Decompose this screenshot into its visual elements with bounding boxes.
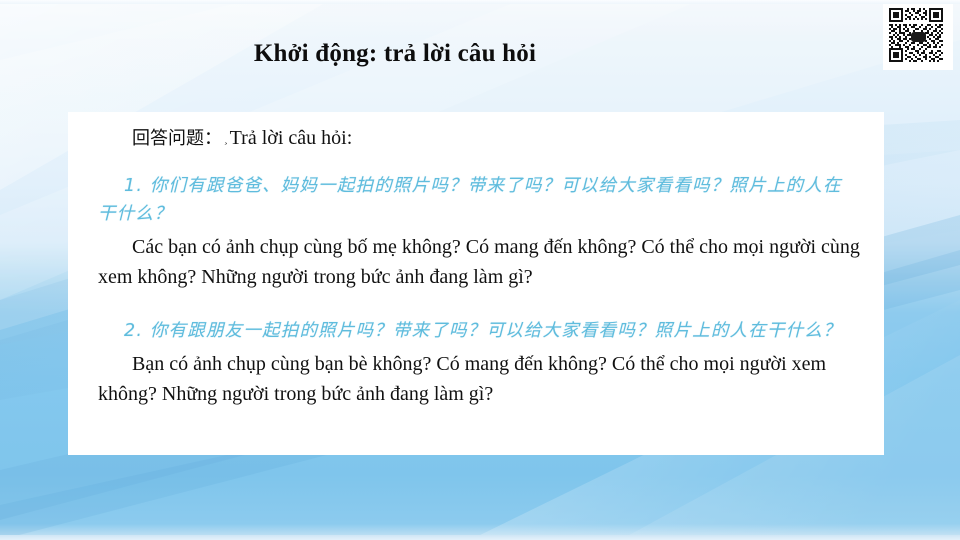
question-block-2: 2. 你有跟朋友一起拍的照片吗？带来了吗？可以给大家看看吗？照片上的人在干什么？… bbox=[68, 317, 884, 409]
card-heading: 回答问题：¸Trả lời câu hỏi: bbox=[132, 124, 352, 150]
question-1-vietnamese: Các bạn có ảnh chụp cùng bố mẹ không? Có… bbox=[68, 228, 884, 292]
question-block-1: 1. 你们有跟爸爸、妈妈一起拍的照片吗？带来了吗？可以给大家看看吗？照片上的人在… bbox=[68, 172, 884, 292]
qr-code[interactable] bbox=[883, 4, 953, 70]
page-title: Khởi động: trả lời câu hỏi bbox=[0, 40, 790, 68]
card-heading-tick: ¸ bbox=[222, 133, 230, 145]
slide-canvas: Khởi động: trả lời câu hỏi 回答问题：¸Trả lời… bbox=[0, 0, 960, 540]
top-edge-strip bbox=[0, 0, 960, 4]
card-heading-chinese: 回答问题： bbox=[132, 128, 222, 149]
bottom-edge-strip bbox=[0, 535, 960, 540]
content-card: 回答问题：¸Trả lời câu hỏi: 1. 你们有跟爸爸、妈妈一起拍的照… bbox=[68, 112, 884, 455]
qr-center-logo-icon bbox=[911, 32, 926, 42]
question-2-vietnamese: Bạn có ảnh chụp cùng bạn bè không? Có ma… bbox=[68, 345, 884, 409]
question-1-chinese: 1. 你们有跟爸爸、妈妈一起拍的照片吗？带来了吗？可以给大家看看吗？照片上的人在… bbox=[68, 172, 884, 228]
question-2-chinese: 2. 你有跟朋友一起拍的照片吗？带来了吗？可以给大家看看吗？照片上的人在干什么？ bbox=[68, 317, 884, 345]
card-heading-vietnamese: Trả lời câu hỏi: bbox=[230, 127, 353, 149]
